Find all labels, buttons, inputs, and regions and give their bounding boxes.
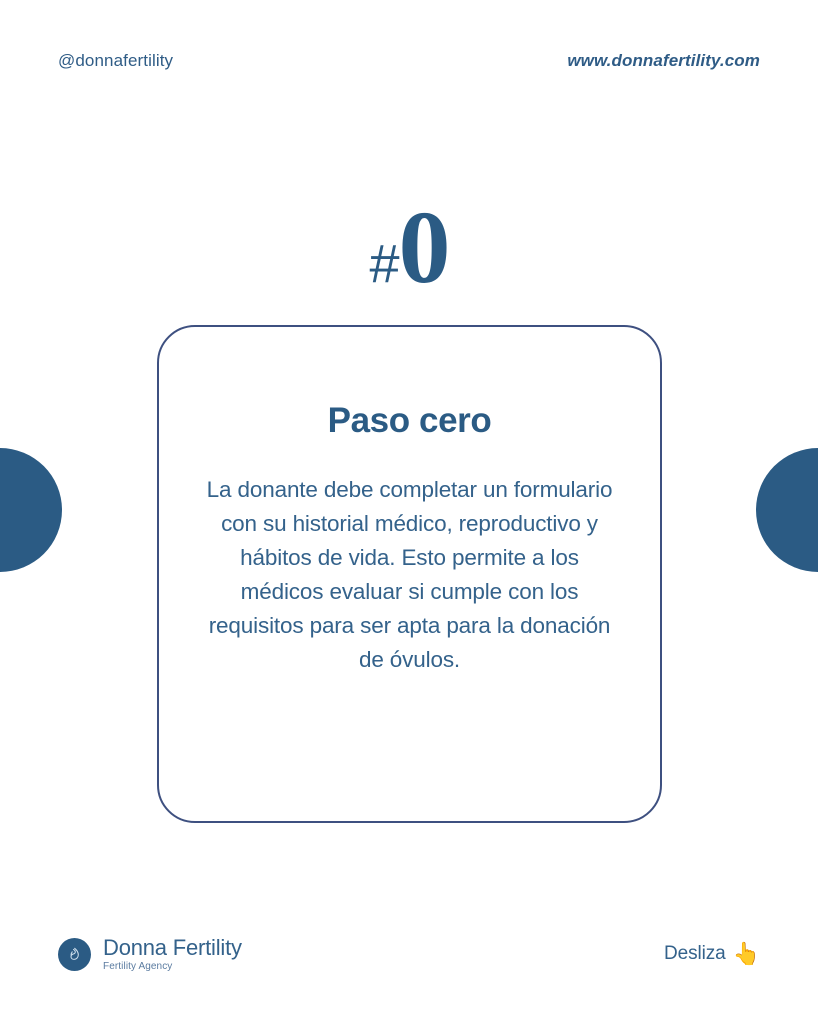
droplet-leaf-icon <box>58 938 91 971</box>
swipe-label: Desliza <box>664 943 726 965</box>
header: @donnafertility www.donnafertility.com <box>0 45 818 77</box>
step-number: #0 <box>0 196 818 300</box>
card-title: Paso cero <box>159 327 660 441</box>
brand-text-block: Donna Fertility Fertility Agency <box>103 937 242 972</box>
brand-name: Donna Fertility <box>103 937 242 959</box>
swipe-hand-icon: 👆 <box>733 943 760 965</box>
content-card: Paso cero La donante debe completar un f… <box>157 325 662 823</box>
half-circle-left-decoration <box>0 448 62 572</box>
brand-tagline: Fertility Agency <box>103 962 242 972</box>
slide-canvas: @donnafertility www.donnafertility.com #… <box>0 0 818 1023</box>
website-url: www.donnafertility.com <box>567 51 760 71</box>
half-circle-right-decoration <box>756 448 818 572</box>
brand-logo: Donna Fertility Fertility Agency <box>58 937 242 972</box>
social-handle: @donnafertility <box>58 51 173 71</box>
swipe-hint[interactable]: Desliza 👆 <box>664 943 760 965</box>
step-digit: 0 <box>399 190 449 305</box>
footer: Donna Fertility Fertility Agency Desliza… <box>0 929 818 979</box>
card-body-text: La donante debe completar un formulario … <box>201 441 619 677</box>
step-hash-symbol: # <box>369 234 398 294</box>
